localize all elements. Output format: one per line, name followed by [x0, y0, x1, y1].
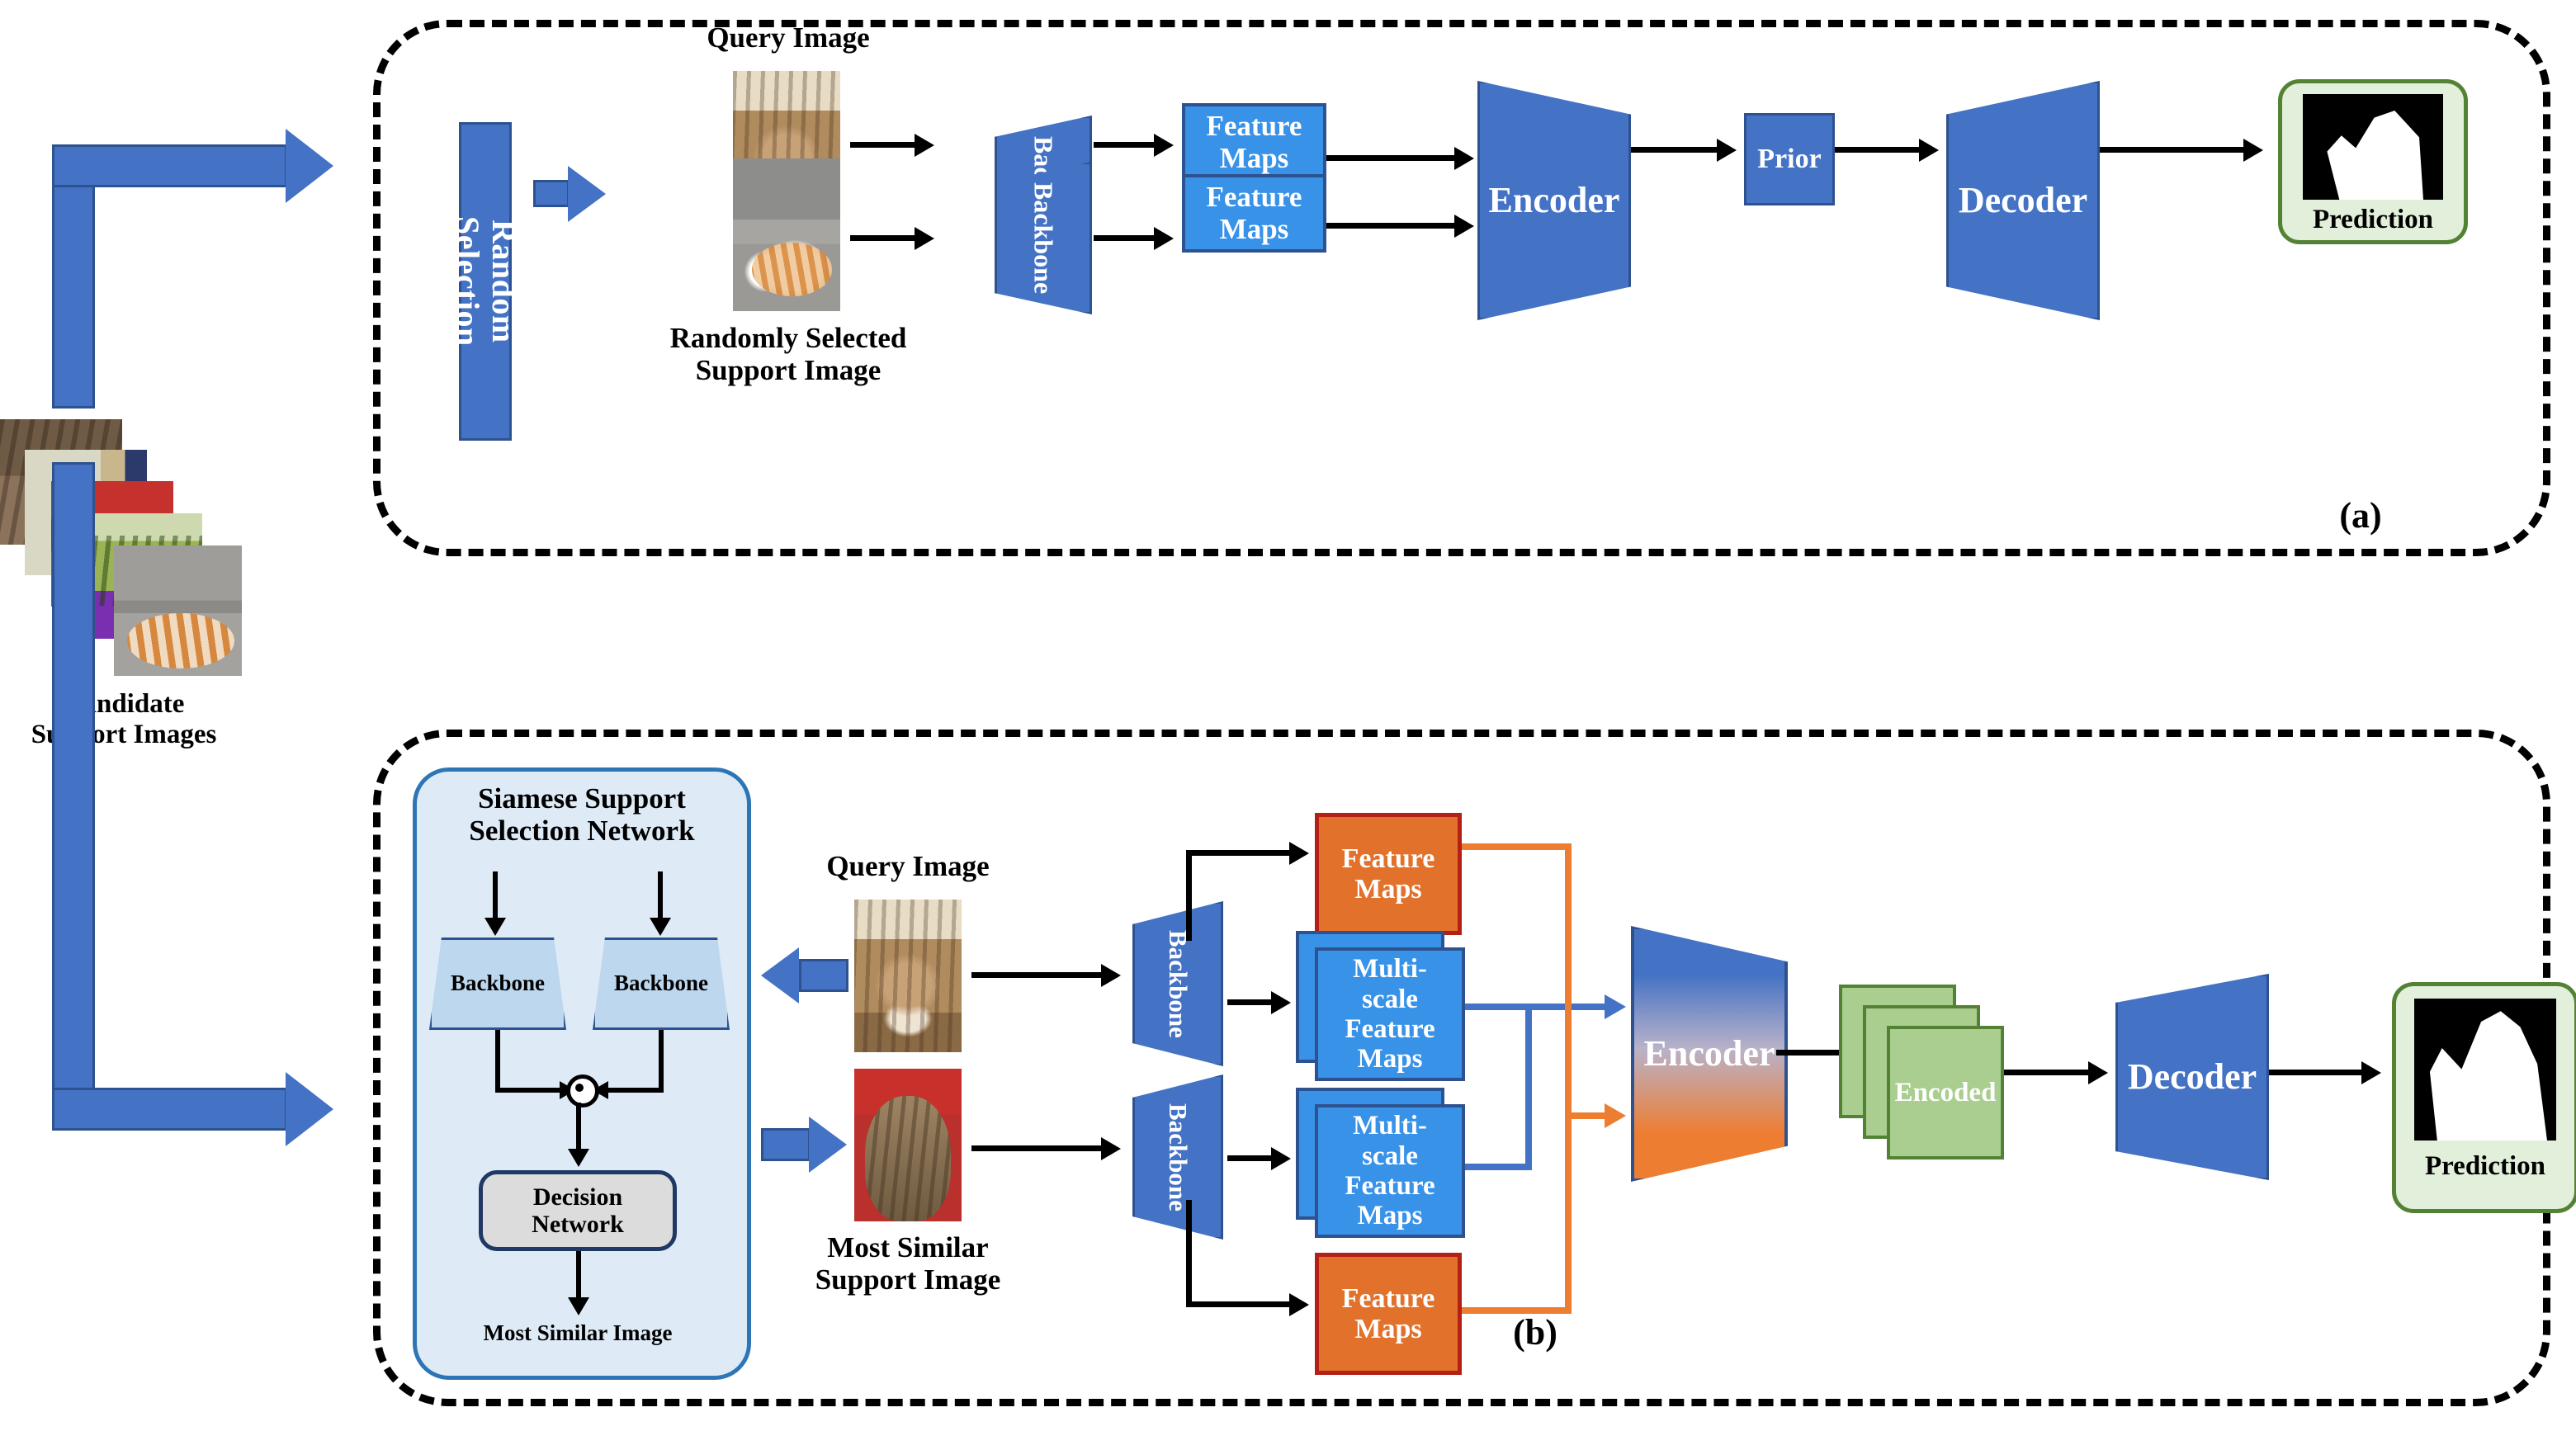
merge-operator-center-dot — [575, 1084, 584, 1092]
panel-a-fm-bottom-to-encoder-line — [1326, 223, 1460, 229]
panel-a-fm-top-to-encoder-arrow — [1454, 147, 1474, 170]
multiscale-bottom-blue-vline — [1525, 1004, 1532, 1170]
backbone-bottom-to-fm-arrow — [1289, 1293, 1309, 1316]
panel-a-support-image — [733, 158, 840, 311]
panel-a-prediction-label: Prediction — [2278, 205, 2468, 235]
flow-arrow-to-panel-a-horizontal — [52, 144, 287, 187]
siamese-title-to-backbone-right-line — [658, 871, 663, 923]
panel-b-encoded-to-decoder-arrow — [2088, 1061, 2108, 1084]
random-selection-to-support-arrow-head — [568, 166, 606, 222]
panel-b-query-to-backbone-arrow — [1101, 964, 1121, 987]
panel-b-encoder[interactable]: Encoder — [1631, 926, 1788, 1182]
panel-b-decoder-to-prediction-line — [2269, 1070, 2366, 1075]
most-similar-image-label: Most Similar Image — [429, 1320, 726, 1345]
panel-b-multiscale-bottom[interactable]: Multi- scale Feature Maps — [1315, 1104, 1465, 1238]
flow-arrow-to-panel-b-head — [286, 1072, 333, 1146]
panel-b-backbone-top[interactable]: Backbone — [1132, 901, 1223, 1066]
panel-a-query-image-label: Query Image — [652, 21, 924, 54]
multiscale-top-blue-hline — [1465, 1004, 1609, 1010]
panel-a-prior-to-decoder-arrow — [1919, 139, 1939, 162]
backbone-top-to-multiscale-line — [1227, 999, 1275, 1005]
panel-b-query-image-label: Query Image — [772, 850, 1044, 882]
panel-a-decoder[interactable]: Decoder — [1946, 81, 2100, 320]
panel-b-feature-maps-top[interactable]: Feature Maps — [1315, 813, 1462, 935]
merge-to-decision-arrow — [568, 1149, 589, 1167]
panel-a-fm-bottom-to-encoder-arrow — [1454, 215, 1474, 238]
panel-b-support-to-backbone-arrow — [1101, 1137, 1121, 1160]
fm-bottom-orange-hline — [1462, 1307, 1571, 1314]
panel-a-encoder-to-prior-line — [1631, 147, 1722, 153]
query-to-siamese-arrow-shaft — [799, 959, 848, 992]
flow-arrow-to-panel-b-horizontal — [52, 1088, 287, 1131]
panel-b-encoded[interactable]: Encoded — [1887, 1026, 2004, 1159]
panel-b-decoder[interactable]: Decoder — [2115, 974, 2269, 1180]
backbone-bottom-to-multiscale-line — [1227, 1155, 1275, 1161]
panel-a-backbone-bottom-to-fm-line — [1094, 235, 1158, 241]
panel-a-decoder-to-prediction-arrow — [2243, 139, 2263, 162]
panel-b-support-image — [854, 1069, 962, 1221]
siamese-to-support-arrow-shaft — [761, 1128, 811, 1161]
orange-to-encoder-arrow — [1605, 1103, 1626, 1128]
backbone-bottom-to-multiscale-arrow — [1271, 1147, 1291, 1170]
panel-a-decoder-to-prediction-line — [2100, 147, 2248, 153]
panel-a-backbone-top-to-fm-arrow — [1154, 134, 1174, 157]
panel-a-feature-maps-bottom[interactable]: Feature Maps — [1182, 174, 1326, 253]
siamese-support-selection-network-panel — [413, 767, 751, 1380]
panel-a-backbone-top-to-fm-line — [1094, 142, 1158, 148]
panel-b-caption: (b) — [1486, 1312, 1585, 1353]
siamese-left-merge-vline — [495, 1030, 500, 1093]
panel-b-multiscale-top[interactable]: Multi- scale Feature Maps — [1315, 947, 1465, 1081]
siamese-backbone-left[interactable]: Backbone — [429, 937, 566, 1030]
panel-b-support-to-backbone-line — [971, 1145, 1105, 1151]
panel-b-query-to-backbone-line — [971, 972, 1105, 978]
flow-arrow-to-panel-a-head — [286, 129, 333, 203]
backbone-top-to-fm-arrow — [1289, 842, 1309, 865]
merge-to-decision-line — [576, 1103, 581, 1154]
panel-b-feature-maps-bottom[interactable]: Feature Maps — [1315, 1253, 1462, 1375]
panel-a-border — [373, 20, 2550, 556]
candidate-support-images-label: Candidate Support Images — [0, 689, 248, 750]
decision-network-box[interactable]: Decision Network — [479, 1170, 677, 1251]
backbone-bottom-to-fm-vline — [1186, 1200, 1192, 1307]
panel-b-backbone-bottom[interactable]: Backbone — [1132, 1074, 1223, 1240]
panel-b-query-image — [854, 900, 962, 1052]
fm-top-orange-hline — [1462, 843, 1571, 850]
panel-a-encoder[interactable]: Encoder — [1477, 81, 1631, 320]
siamese-title-to-backbone-left-arrow — [484, 918, 506, 936]
siamese-to-support-arrow-head — [809, 1117, 847, 1173]
candidate-image-5 — [114, 545, 242, 676]
backbone-top-to-fm-hline — [1186, 850, 1293, 856]
siamese-title-to-backbone-left-line — [493, 871, 498, 923]
panel-a-query-to-backbone-arrow — [915, 134, 934, 157]
merge-operator-icon — [566, 1074, 599, 1107]
backbone-top-to-multiscale-arrow — [1271, 991, 1291, 1014]
panel-a-prior[interactable]: Prior — [1744, 113, 1835, 205]
panel-a-support-to-backbone-line — [850, 235, 918, 241]
panel-a-backbone-bottom-to-fm-arrow — [1154, 227, 1174, 250]
random-selection-to-support-arrow-shaft — [533, 180, 570, 207]
panel-b-decoder-to-prediction-arrow — [2361, 1061, 2381, 1084]
panel-a-caption: (a) — [2311, 495, 2410, 536]
siamese-title-to-backbone-right-arrow — [650, 918, 671, 936]
siamese-backbone-right[interactable]: Backbone — [593, 937, 730, 1030]
backbone-top-to-fm-vline — [1186, 850, 1192, 941]
figure-canvas: Candidate Support Images (a) Random Sele… — [0, 0, 2576, 1431]
backbone-bottom-to-fm-hline — [1186, 1301, 1293, 1307]
flow-arrow-to-panel-b-vertical — [52, 462, 95, 1131]
panel-a-feature-maps-top[interactable]: Feature Maps — [1182, 103, 1326, 182]
panel-a-encoder-to-prior-arrow — [1717, 139, 1737, 162]
decision-to-output-arrow — [568, 1297, 589, 1315]
blue-to-encoder-arrow — [1605, 994, 1626, 1019]
multiscale-bottom-blue-hline — [1465, 1164, 1531, 1170]
panel-b-encoded-to-decoder-line — [2004, 1070, 2093, 1075]
decision-to-output-line — [576, 1251, 581, 1302]
panel-a-prior-to-decoder-line — [1835, 147, 1924, 153]
panel-a-query-to-backbone-line — [850, 142, 918, 148]
random-selection-box[interactable]: Random Selection — [459, 122, 512, 441]
siamese-left-merge-hline — [495, 1088, 565, 1093]
siamese-network-title: Siamese Support Selection Network — [419, 782, 744, 847]
panel-a-backbone-bottom[interactable]: Backbone — [995, 162, 1092, 314]
panel-a-support-image-label: Randomly Selected Support Image — [652, 322, 924, 386]
panel-b-prediction-label: Prediction — [2392, 1151, 2576, 1182]
orange-merge-vline — [1565, 843, 1572, 1314]
panel-a-fm-top-to-encoder-line — [1326, 155, 1460, 161]
query-to-siamese-arrow-head — [761, 947, 799, 1004]
panel-b-support-image-label: Most Similar Support Image — [772, 1231, 1044, 1296]
siamese-right-merge-vline — [659, 1030, 664, 1093]
panel-a-support-to-backbone-arrow — [915, 227, 934, 250]
